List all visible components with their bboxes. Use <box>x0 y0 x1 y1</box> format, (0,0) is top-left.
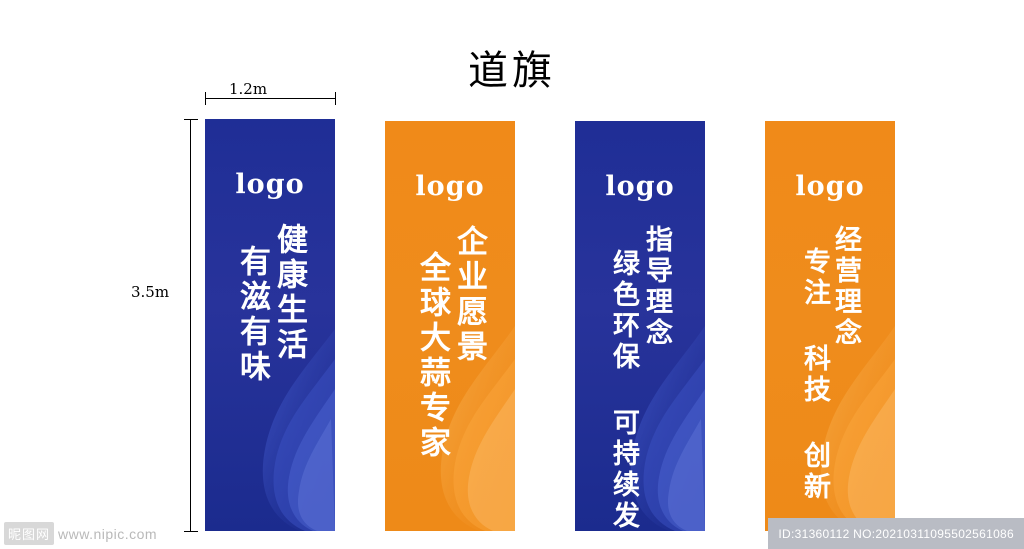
banner-2-text: 企业愿景 全球大蒜专家 <box>385 121 515 531</box>
banner-3-text: 指导理念 绿色环保 可持续发展 <box>575 121 705 531</box>
banner-2: logo 企业愿景 全球大蒜专家 <box>385 121 515 531</box>
banner-3: logo 指导理念 绿色环保 可持续发展 <box>575 121 705 531</box>
banner-4: logo 经营理念 专注 科技 创新 服务 <box>765 121 895 531</box>
banner-4-line-2: 专注 科技 创新 服务 <box>801 247 828 531</box>
width-dimension-tick-left <box>205 92 206 105</box>
banner-4-line-1: 经营理念 <box>832 225 859 349</box>
poster-canvas: 道旗 1.2m 3.5m logo 健康生活 有滋有味 <box>0 0 1024 549</box>
watermark-url: www.nipic.com <box>58 526 157 542</box>
watermark-left: 昵图网 www.nipic.com <box>0 518 230 549</box>
banner-3-line-1: 指导理念 <box>643 225 670 349</box>
banner-2-line-1: 企业愿景 <box>453 225 484 365</box>
banner-1-line-1: 健康生活 <box>273 223 304 363</box>
banner-1: logo 健康生活 有滋有味 <box>205 119 335 531</box>
banner-1-line-2: 有滋有味 <box>236 245 267 385</box>
height-dimension-label: 3.5m <box>131 283 169 301</box>
width-dimension-label: 1.2m <box>225 80 271 98</box>
height-dimension-tick-top <box>184 119 198 120</box>
banner-3-line-2: 绿色环保 可持续发展 <box>610 249 637 531</box>
banner-2-line-2: 全球大蒜专家 <box>416 251 447 461</box>
width-dimension-line <box>205 98 335 99</box>
banner-1-text: 健康生活 有滋有味 <box>205 119 335 531</box>
width-dimension-tick-right <box>335 92 336 105</box>
watermark-logo: 昵图网 <box>4 522 54 545</box>
height-dimension-line <box>190 119 191 531</box>
page-title: 道旗 <box>0 38 1024 96</box>
banner-4-text: 经营理念 专注 科技 创新 服务 <box>765 121 895 531</box>
